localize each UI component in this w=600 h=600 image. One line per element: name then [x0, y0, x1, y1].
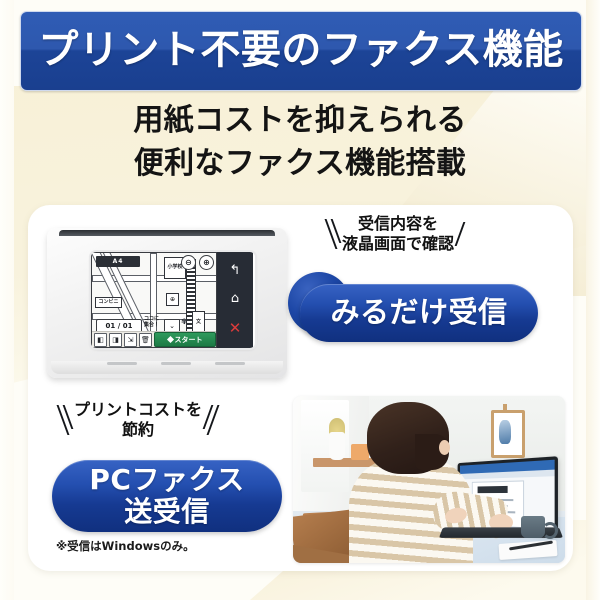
printer-side-buttons: ↰ ⌂ ✕	[217, 252, 253, 348]
printer-vent-3	[215, 362, 245, 365]
printer-top-lip	[59, 230, 275, 236]
stop-icon[interactable]: ✕	[229, 321, 242, 336]
photo-wall-art	[499, 420, 511, 444]
feature-pill-pc-fax[interactable]: PCファクス 送受信	[52, 460, 282, 532]
start-button[interactable]: スタート	[154, 332, 216, 347]
lcd-paper-size-tag: A4	[96, 256, 140, 267]
callout-bottom-slashes-left	[62, 405, 69, 435]
printer-vent-2	[161, 362, 191, 365]
background-edge-left	[0, 0, 14, 600]
home-icon[interactable]: ⌂	[231, 292, 239, 305]
callout-bottom-text: プリントコストを 節約	[74, 400, 202, 441]
header-banner: プリント不要のファクス機能	[20, 11, 582, 91]
photo-mug-handle	[542, 522, 558, 539]
toolbar-prev-page-button[interactable]: ◧	[94, 333, 107, 347]
lcd-frame: 小学校 コンビニ 文 ⊕ ✾ ココに集合！ ⌄ A4 01 / 01 ⊖ ⊕ ◧…	[91, 252, 255, 348]
banner-title: プリント不要のファクス機能	[38, 30, 563, 72]
map-pin-icon: ⊕	[166, 293, 179, 306]
lcd-zoom-controls: ⊖ ⊕	[181, 255, 214, 270]
photo-laptop-doc-header	[478, 486, 508, 493]
promo-graphic: プリント不要のファクス機能 用紙コストを抑えられる 便利なファクス機能搭載	[0, 0, 600, 600]
callout-top: 受信内容を 液晶画面で確認	[330, 214, 461, 255]
callout-bottom: プリントコストを 節約	[62, 400, 214, 441]
printer-base-edge	[51, 361, 283, 374]
feature-pill-2-line-2: 送受信	[89, 496, 244, 528]
footnote-text: ※受信はWindowsのみ。	[56, 538, 195, 554]
callout-bottom-slashes-right	[207, 405, 214, 435]
callout-top-slashes-left	[330, 219, 337, 249]
back-icon[interactable]: ↰	[230, 264, 241, 277]
toolbar-resize-button[interactable]: ⇲	[124, 333, 137, 347]
printer-vent-1	[107, 362, 137, 365]
subtitle-block: 用紙コストを抑えられる 便利なファクス機能搭載	[0, 100, 600, 185]
background-edge-right	[586, 0, 600, 600]
photo-vase	[329, 432, 345, 460]
map-label-convenience: コンビニ	[95, 297, 122, 308]
callout-top-line-2: 液晶画面で確認	[342, 234, 454, 254]
photo-frame-hook	[503, 404, 507, 412]
callout-top-text: 受信内容を 液晶画面で確認	[342, 214, 454, 255]
photo-person-ear	[439, 440, 450, 455]
subtitle-line-2: 便利なファクス機能搭載	[0, 143, 600, 186]
zoom-in-icon[interactable]: ⊕	[199, 255, 214, 270]
callout-top-slashes-right	[459, 222, 461, 246]
lifestyle-photo	[293, 396, 565, 563]
start-diamond-icon	[166, 336, 173, 343]
toolbar-next-page-button[interactable]: ◨	[109, 333, 122, 347]
start-button-label: スタート	[175, 335, 203, 345]
zoom-out-icon[interactable]: ⊖	[181, 255, 196, 270]
feature-pill-2-line-1: PCファクス	[89, 464, 244, 496]
feature-pill-1-label: みるだけ受信	[330, 296, 507, 329]
feature-pill-miru-dake[interactable]: みるだけ受信	[300, 284, 538, 342]
callout-bottom-line-2: 節約	[74, 420, 202, 440]
lcd-screen[interactable]: 小学校 コンビニ 文 ⊕ ✾ ココに集合！ ⌄ A4 01 / 01 ⊖ ⊕ ◧…	[91, 252, 217, 348]
map-label-here: ココに集合！	[144, 317, 159, 328]
map-flower-icon: ✾	[181, 317, 188, 326]
subtitle-line-1: 用紙コストを抑えられる	[0, 100, 600, 143]
callout-bottom-line-1: プリントコストを	[74, 400, 202, 420]
lcd-toolbar: ◧ ◨ ⇲ 🗑 スタート	[92, 331, 217, 347]
printer-control-panel: 小学校 コンビニ 文 ⊕ ✾ ココに集合！ ⌄ A4 01 / 01 ⊖ ⊕ ◧…	[47, 228, 287, 378]
callout-top-line-1: 受信内容を	[342, 214, 454, 234]
toolbar-delete-button[interactable]: 🗑	[139, 333, 152, 347]
